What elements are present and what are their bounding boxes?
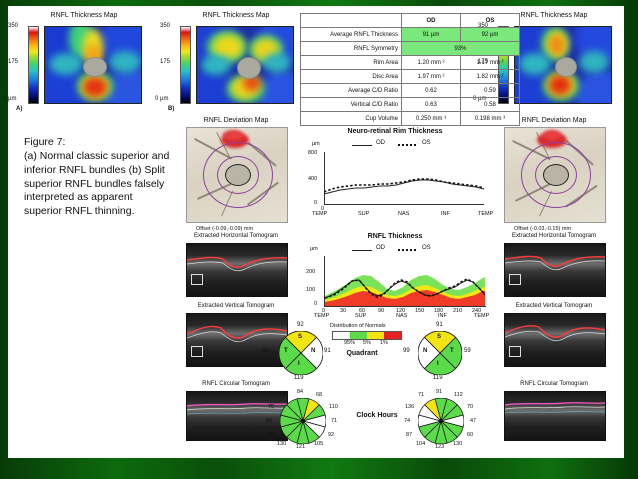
clock-os-value-11: 71 [418, 392, 424, 398]
clock-hours-pie-os [418, 398, 464, 444]
clock-od-value-9: 60 [266, 418, 272, 424]
clock-os-value-3: 47 [470, 418, 476, 424]
rnfl-legend-os-line [398, 249, 418, 251]
quadrant-od-label-t: T [284, 348, 288, 354]
oct-summary-table: OD OS Average RNFL Thickness 91 µm 92 µm… [300, 13, 520, 126]
quadrant-os-superior-value: 91 [436, 322, 443, 328]
rim-xlabel-temp2: TEMP [478, 211, 493, 217]
table-header-od: OD [402, 14, 461, 28]
rnfl-thickness-plot [325, 262, 485, 306]
table-row: RNFL Symmetry 93% [301, 42, 520, 56]
colorbar-mid-label-a: 175 [8, 59, 18, 65]
tomogram-horizontal-right [504, 243, 606, 297]
clock-od-value-1: 68 [316, 392, 322, 398]
rnfl-xlabel-sup: SUP [355, 313, 366, 319]
clock-hours-section-title: Clock Hours [355, 412, 399, 420]
quadrant-od-nasal-value: 91 [324, 348, 331, 354]
thickness-map-image-c [514, 26, 612, 104]
colorbar-bottom-label-a: 0 µm [3, 96, 16, 102]
clock-od-value-12: 84 [297, 389, 303, 395]
clock-hours-pie-od [280, 398, 326, 444]
rnfl-thickness-chart-title: RNFL Thickness [300, 233, 490, 240]
panel-label-b: B) [168, 106, 174, 112]
rim-ytick-0: 0 [314, 200, 317, 206]
row-od-disc-area: 1.97 mm ² [402, 70, 461, 84]
colorbar-mid-label-b: 175 [160, 59, 170, 65]
rnfl-xtick-210: 210 [453, 308, 462, 314]
quadrant-od-label-i: I [298, 361, 300, 367]
clock-os-value-7: 104 [416, 441, 425, 447]
rim-xlabel-nas: NAS [398, 211, 409, 217]
clock-os-value-10: 136 [405, 404, 414, 410]
thickness-map-image-a [44, 26, 142, 104]
rnfl-xlabel-inf: INF [438, 313, 447, 319]
clock-od-value-3: 71 [331, 418, 337, 424]
rnfl-xlabel-temp2: TEMP [474, 313, 489, 319]
row-label-cup-volume: Cup Volume [301, 112, 402, 126]
rnfl-xtick-150: 150 [415, 308, 424, 314]
dist-swatch-yellow [367, 332, 384, 339]
dist-label-95: 95% [344, 340, 355, 346]
rim-legend-os-label: OS [422, 140, 431, 146]
clock-od-value-2: 110 [329, 404, 338, 410]
quadrant-os-inferior-value: 119 [433, 375, 443, 381]
rnfl-legend-os-label: OS [422, 245, 431, 251]
tomogram-circular-right [504, 391, 606, 441]
rim-legend-od-label: OD [376, 140, 385, 146]
row-os-rim-area: 1.17 mm ² [461, 56, 520, 70]
row-od-avg-rnfl: 91 µm [402, 28, 461, 42]
row-label-rim-area: Rim Area [301, 56, 402, 70]
thickness-map-panel-a: RNFL Thickness Map [24, 12, 144, 19]
thickness-map-panel-b: RNFL Thickness Map [176, 12, 296, 19]
quadrant-od-superior-value: 92 [297, 322, 304, 328]
dist-swatch-white [333, 332, 350, 339]
row-label-symmetry: RNFL Symmetry [301, 42, 402, 56]
rim-xlabel-sup: SUP [358, 211, 369, 217]
tomogram-caption-circular-left: RNFL Circular Tomogram [176, 381, 296, 387]
table-header-os: OS [461, 14, 520, 28]
quadrant-os-label-n: N [423, 348, 427, 354]
table-row: Cup Volume 0.250 mm ³ 0.198 mm ³ [301, 112, 520, 126]
thickness-colorbar-a [28, 26, 39, 104]
distribution-title: Distribution of Normals [330, 323, 386, 329]
row-os-avg-cd: 0.59 [461, 84, 520, 98]
clock-od-value-4: 92 [328, 432, 334, 438]
figure-caption-label: Figure 7: [24, 136, 172, 150]
rnfl-ytick-200: 200 [306, 269, 315, 275]
rim-ytick-400: 400 [308, 176, 317, 182]
row-os-vert-cd: 0.58 [461, 98, 520, 112]
clock-od-value-8: 63 [268, 432, 274, 438]
rnfl-chart-ylabel: µm [310, 246, 318, 252]
table-row: Average C/D Ratio 0.62 0.59 [301, 84, 520, 98]
row-os-avg-rnfl: 92 µm [461, 28, 520, 42]
figure-caption: Figure 7: (a) Normal classic superior an… [24, 136, 172, 219]
tomogram-caption-circular-right: RNFL Circular Tomogram [494, 381, 614, 387]
deviation-map-image-right [504, 127, 606, 223]
distribution-bar [332, 331, 402, 340]
clock-os-value-1: 112 [454, 392, 463, 398]
thickness-map-image-b [196, 26, 294, 104]
quadrant-os-label-i: I [437, 361, 439, 367]
row-od-cup-volume: 0.250 mm ³ [402, 112, 461, 126]
clock-os-value-6: 123 [435, 444, 444, 450]
rnfl-legend-od-line [352, 250, 372, 251]
tomogram-caption-horizontal-right: Extracted Horizontal Tomogram [494, 233, 614, 239]
table-row: Rim Area 1.20 mm ² 1.17 mm ² [301, 56, 520, 70]
clock-os-value-4: 60 [467, 432, 473, 438]
rnfl-chart-xaxis [324, 306, 486, 307]
deviation-map-title-right: RNFL Deviation Map [494, 117, 614, 124]
dist-swatch-red [384, 332, 401, 339]
thickness-colorbar-b [180, 26, 191, 104]
quadrant-od-inferior-value: 119 [294, 375, 304, 381]
clock-os-value-8: 87 [406, 432, 412, 438]
thickness-map-title-b: RNFL Thickness Map [176, 12, 296, 19]
rnfl-xtick-30: 30 [340, 308, 346, 314]
clock-od-value-7: 130 [277, 441, 286, 447]
figure-caption-text: (a) Normal classic superior and inferior… [24, 150, 172, 219]
colorbar-top-label-a: 350 [8, 23, 18, 29]
row-od-rim-area: 1.20 mm ² [402, 56, 461, 70]
rim-legend-os-line [398, 144, 418, 146]
table-row: Average RNFL Thickness 91 µm 92 µm [301, 28, 520, 42]
rim-thickness-plot [324, 152, 486, 205]
table-header-row: OD OS [301, 14, 520, 28]
rim-chart-ylabel: µm [312, 141, 320, 147]
colorbar-top-label-b: 350 [160, 23, 170, 29]
clock-od-value-6: 121 [296, 444, 305, 450]
clock-os-value-2: 70 [467, 404, 473, 410]
dist-label-5: 5% [363, 340, 371, 346]
row-label-disc-area: Disc Area [301, 70, 402, 84]
clock-od-value-11: 126 [279, 392, 288, 398]
rnfl-legend-od-label: OD [376, 245, 385, 251]
quadrant-od-label-s: S [298, 334, 302, 340]
quadrant-od-temporal-value: 61 [263, 348, 270, 354]
tomogram-caption-vertical-left: Extracted Vertical Tomogram [176, 303, 296, 309]
clock-od-value-10: 70 [268, 404, 274, 410]
row-od-vert-cd: 0.63 [402, 98, 461, 112]
rnfl-xlabel-temp1: TEMP [314, 313, 329, 319]
clock-os-value-9: 74 [404, 418, 410, 424]
table-header-blank [301, 14, 402, 28]
tomogram-caption-vertical-right: Extracted Vertical Tomogram [494, 303, 614, 309]
clock-hours-title-text: Clock Hours [356, 412, 397, 419]
tomogram-vertical-right [504, 313, 606, 367]
row-label-avg-rnfl: Average RNFL Thickness [301, 28, 402, 42]
deviation-offset-left: Offset (-0.09,-0.09) mm [196, 226, 253, 232]
panel-label-a: A) [16, 106, 22, 112]
tomogram-vertical-left [186, 313, 288, 367]
tomogram-caption-horizontal-left: Extracted Horizontal Tomogram [176, 233, 296, 239]
deviation-map-image-left [186, 127, 288, 223]
rim-thickness-chart-title: Neuro-retinal Rim Thickness [300, 128, 490, 135]
colorbar-bottom-label-b: 0 µm [155, 96, 168, 102]
rim-legend-od-line [352, 145, 372, 146]
clock-od-value-5: 105 [314, 441, 323, 447]
row-od-avg-cd: 0.62 [402, 84, 461, 98]
row-label-vert-cd: Vertical C/D Ratio [301, 98, 402, 112]
quadrant-os-nasal-value: 99 [403, 348, 410, 354]
rnfl-ytick-100: 100 [306, 287, 315, 293]
rim-xlabel-temp1: TEMP [312, 211, 327, 217]
deviation-map-title-left: RNFL Deviation Map [176, 117, 296, 124]
quadrant-os-label-s: S [437, 334, 441, 340]
rim-ytick-800: 800 [308, 150, 317, 156]
quadrant-os-temporal-value: 59 [464, 348, 471, 354]
quadrant-od-label-n: N [311, 348, 315, 354]
dist-swatch-green [350, 332, 367, 339]
rim-xlabel-inf: INF [441, 211, 450, 217]
dist-label-1: 1% [380, 340, 388, 346]
deviation-offset-right: Offset (-0.03,-0.15) mm [514, 226, 571, 232]
clock-os-value-12: 91 [436, 389, 442, 395]
rnfl-ytick-0: 0 [314, 301, 317, 307]
row-os-disc-area: 1.82 mm ² [461, 70, 520, 84]
rnfl-xlabel-nas: NAS [396, 313, 407, 319]
quadrant-os-label-t: T [450, 348, 454, 354]
row-value-symmetry: 93% [402, 42, 520, 56]
table-row: Vertical C/D Ratio 0.63 0.58 [301, 98, 520, 112]
tomogram-horizontal-left [186, 243, 288, 297]
thickness-map-title-a: RNFL Thickness Map [24, 12, 144, 19]
clock-os-value-5: 130 [453, 441, 462, 447]
oct-table: OD OS Average RNFL Thickness 91 µm 92 µm… [300, 13, 520, 126]
rnfl-xtick-90: 90 [378, 308, 384, 314]
table-row: Disc Area 1.97 mm ² 1.82 mm ² [301, 70, 520, 84]
quadrant-section-title: Quadrant [332, 350, 392, 357]
row-label-avg-cd: Average C/D Ratio [301, 84, 402, 98]
